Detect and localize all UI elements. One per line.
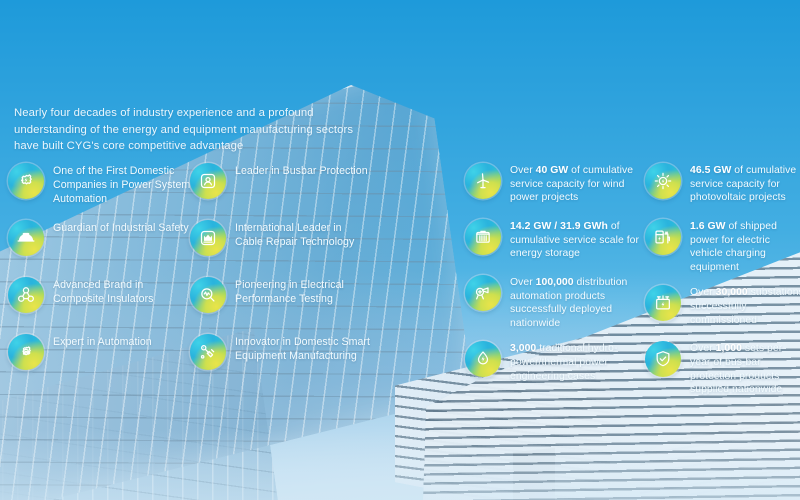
metric-value: 1,000 (716, 343, 742, 354)
list-item[interactable]: Expert in Automation (8, 333, 193, 379)
substation-icon (645, 285, 681, 321)
list-item[interactable]: Over 100,000 distribution automation pro… (465, 274, 645, 330)
list-item[interactable]: Guardian of Industrial Safety (8, 219, 193, 265)
list-item-label: 3,000 traditional hydro-power/thermal po… (510, 340, 645, 383)
list-item-label: Pioneering in Electrical Performance Tes… (235, 276, 370, 306)
list-item-label: International Leader in Cable Repair Tec… (235, 219, 370, 249)
list-item[interactable]: One of the First Domestic Companies in P… (8, 162, 193, 208)
insulator-icon (8, 277, 44, 313)
label-prefix: Over (510, 165, 536, 176)
metric-value: 1.6 GW (690, 221, 726, 232)
metric-value: 3,000 (510, 343, 536, 354)
list-item-label: Over 40 GW of cumulative service capacit… (510, 162, 645, 205)
list-item[interactable]: 14.2 GW / 31.9 GWh of cumulative service… (465, 218, 645, 264)
list-item-label: 14.2 GW / 31.9 GWh of cumulative service… (510, 218, 645, 261)
hydro-power-icon (465, 341, 501, 377)
hard-hat-icon (8, 220, 44, 256)
list-item[interactable]: Leader in Busbar Protection (190, 162, 370, 208)
wind-turbine-icon (465, 163, 501, 199)
list-item-label: Over 100,000 distribution automation pro… (510, 274, 645, 330)
crown-icon (190, 220, 226, 256)
list-item-label: One of the First Domestic Companies in P… (53, 162, 193, 207)
list-item-label: Innovator in Domestic Smart Equipment Ma… (235, 333, 370, 363)
qualifications-column-1: One of the First Domestic Companies in P… (8, 162, 193, 390)
list-item-label: 46.5 GW of cumulative service capacity f… (690, 162, 800, 205)
list-item-label: Over 30,000 substations successfully com… (690, 284, 800, 327)
label-prefix: Over (510, 277, 536, 288)
solar-sun-icon (645, 163, 681, 199)
robot-arm-icon (190, 334, 226, 370)
busbar-shield-icon (190, 163, 226, 199)
list-item-label: Advanced Brand in Composite Insulators (53, 276, 193, 306)
statistics-column-4: 46.5 GW of cumulative service capacity f… (645, 162, 800, 407)
label-prefix: Over (690, 287, 716, 298)
list-item[interactable]: Over 30,000 substations successfully com… (645, 284, 800, 330)
metric-value: 30,000 (716, 287, 748, 298)
metric-value: 46.5 GW (690, 165, 731, 176)
gear-bolt-icon (8, 163, 44, 199)
list-item[interactable]: International Leader in Cable Repair Tec… (190, 219, 370, 265)
list-item[interactable]: Over 1,000 sets per year of bus-bar prot… (645, 340, 800, 396)
list-item[interactable]: Advanced Brand in Composite Insulators (8, 276, 193, 322)
statistics-column-3: Over 40 GW of cumulative service capacit… (465, 162, 645, 396)
list-item-label: Expert in Automation (53, 333, 152, 349)
list-item[interactable]: Innovator in Domestic Smart Equipment Ma… (190, 333, 370, 379)
list-item-label: 1.6 GW of shipped power for electric veh… (690, 218, 800, 274)
ev-charger-icon (645, 219, 681, 255)
label-prefix: Over (690, 343, 716, 354)
list-item[interactable]: Over 40 GW of cumulative service capacit… (465, 162, 645, 208)
metric-value: 40 GW (536, 165, 569, 176)
list-item[interactable]: 46.5 GW of cumulative service capacity f… (645, 162, 800, 208)
energy-storage-icon (465, 219, 501, 255)
shield-check-icon (645, 341, 681, 377)
distribution-automation-icon (465, 275, 501, 311)
list-item-label: Over 1,000 sets per year of bus-bar prot… (690, 340, 800, 396)
gear-ai-icon (8, 334, 44, 370)
metric-value: 14.2 GW / 31.9 GWh (510, 221, 608, 232)
list-item-label: Leader in Busbar Protection (235, 162, 368, 178)
list-item[interactable]: 1.6 GW of shipped power for electric veh… (645, 218, 800, 274)
list-item[interactable]: Pioneering in Electrical Performance Tes… (190, 276, 370, 322)
metric-value: 100,000 (536, 277, 574, 288)
qualifications-column-2: Leader in Busbar ProtectionInternational… (190, 162, 370, 390)
magnifier-wave-icon (190, 277, 226, 313)
list-item[interactable]: 3,000 traditional hydro-power/thermal po… (465, 340, 645, 386)
list-item-label: Guardian of Industrial Safety (53, 219, 189, 235)
intro-paragraph: Nearly four decades of industry experien… (14, 105, 369, 155)
